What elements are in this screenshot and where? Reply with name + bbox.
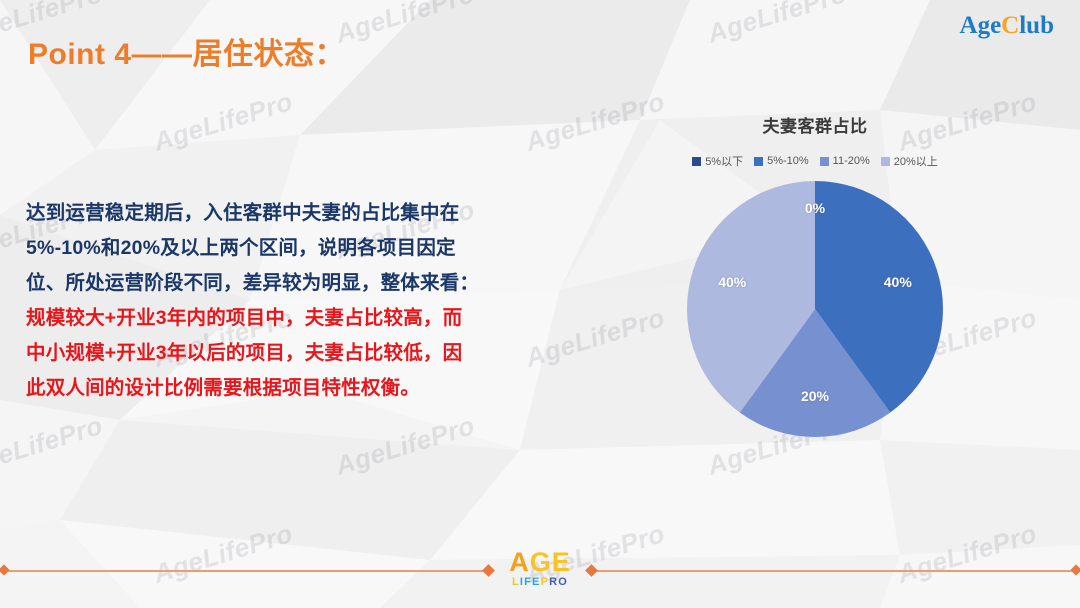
pie-slice-label: 20% xyxy=(801,388,829,404)
summary-line-red-1: 规模较大+开业3年内的项目中，夫妻占比较高，而 xyxy=(26,301,556,336)
chart-title: 夫妻客群占比 xyxy=(640,112,990,137)
summary-line-red-3: 此双人间的设计比例需要根据项目特性权衡。 xyxy=(26,371,556,406)
footer-logo-sub-ife: IFE xyxy=(520,576,541,588)
footer-rule-left xyxy=(0,570,489,572)
footer-rule-right xyxy=(591,570,1080,572)
legend-label: 20%以上 xyxy=(894,153,938,169)
summary-line-navy-2: 5%-10%和20%及以上两个区间，说明各项目因定 xyxy=(26,231,556,266)
summary-line-red-2: 中小规模+开业3年以后的项目，夫妻占比较低，因 xyxy=(26,336,556,371)
ageclub-logo-lub: lub xyxy=(1019,12,1054,39)
legend-item[interactable]: 5%-10% xyxy=(754,155,809,167)
ageclub-logo-age: Age xyxy=(960,12,1002,39)
ageclub-logo-c: C xyxy=(1001,12,1019,39)
footer-logo-letter-g: G xyxy=(530,547,552,577)
legend-swatch-icon xyxy=(692,157,701,166)
footer-logo-letter-a: A xyxy=(509,547,530,577)
legend-swatch-icon xyxy=(754,157,763,166)
summary-line-navy-1: 达到运营稳定期后，入住客群中夫妻的占比集中在 xyxy=(26,196,556,231)
footer-logo-sub-l: L xyxy=(512,576,520,588)
pie-chart-area: 0%40%20%40% xyxy=(640,179,990,449)
legend-label: 5%以下 xyxy=(705,153,743,169)
legend-item[interactable]: 11-20% xyxy=(820,155,870,167)
summary-line-navy-3: 位、所处运营阶段不同，差异较为明显，整体来看： xyxy=(26,266,556,301)
footer-logo-sub-ro: RO xyxy=(549,576,568,588)
footer-logo-subtitle: LIFEPRO xyxy=(500,576,580,589)
legend-label: 11-20% xyxy=(833,155,870,167)
legend-swatch-icon xyxy=(881,157,890,166)
pie-chart-block: 夫妻客群占比 5%以下5%-10%11-20%20%以上 0%40%20%40% xyxy=(640,100,990,470)
legend-item[interactable]: 5%以下 xyxy=(692,153,743,169)
legend-swatch-icon xyxy=(820,157,829,166)
footer-logo-letter-e: E xyxy=(552,547,571,577)
legend-item[interactable]: 20%以上 xyxy=(881,153,938,169)
footer-logo-sub-p: P xyxy=(541,576,550,588)
footer-logo-age: AGE xyxy=(500,550,580,575)
pie-slice-label: 40% xyxy=(718,274,746,290)
ageclub-logo: AgeClub xyxy=(960,12,1054,40)
legend-label: 5%-10% xyxy=(767,155,809,167)
pie-slice-label: 0% xyxy=(805,200,825,216)
agelifepro-footer-logo: AGE LIFEPRO xyxy=(500,550,580,589)
pie-slice-label: 40% xyxy=(884,274,912,290)
slide-canvas: AgeLifeProAgeLifeProAgeLifeProAgeLifePro… xyxy=(0,0,1080,608)
chart-legend: 5%以下5%-10%11-20%20%以上 xyxy=(640,153,990,169)
summary-paragraph: 达到运营稳定期后，入住客群中夫妻的占比集中在 5%-10%和20%及以上两个区间… xyxy=(26,196,556,406)
page-title: Point 4——居住状态： xyxy=(28,29,345,73)
